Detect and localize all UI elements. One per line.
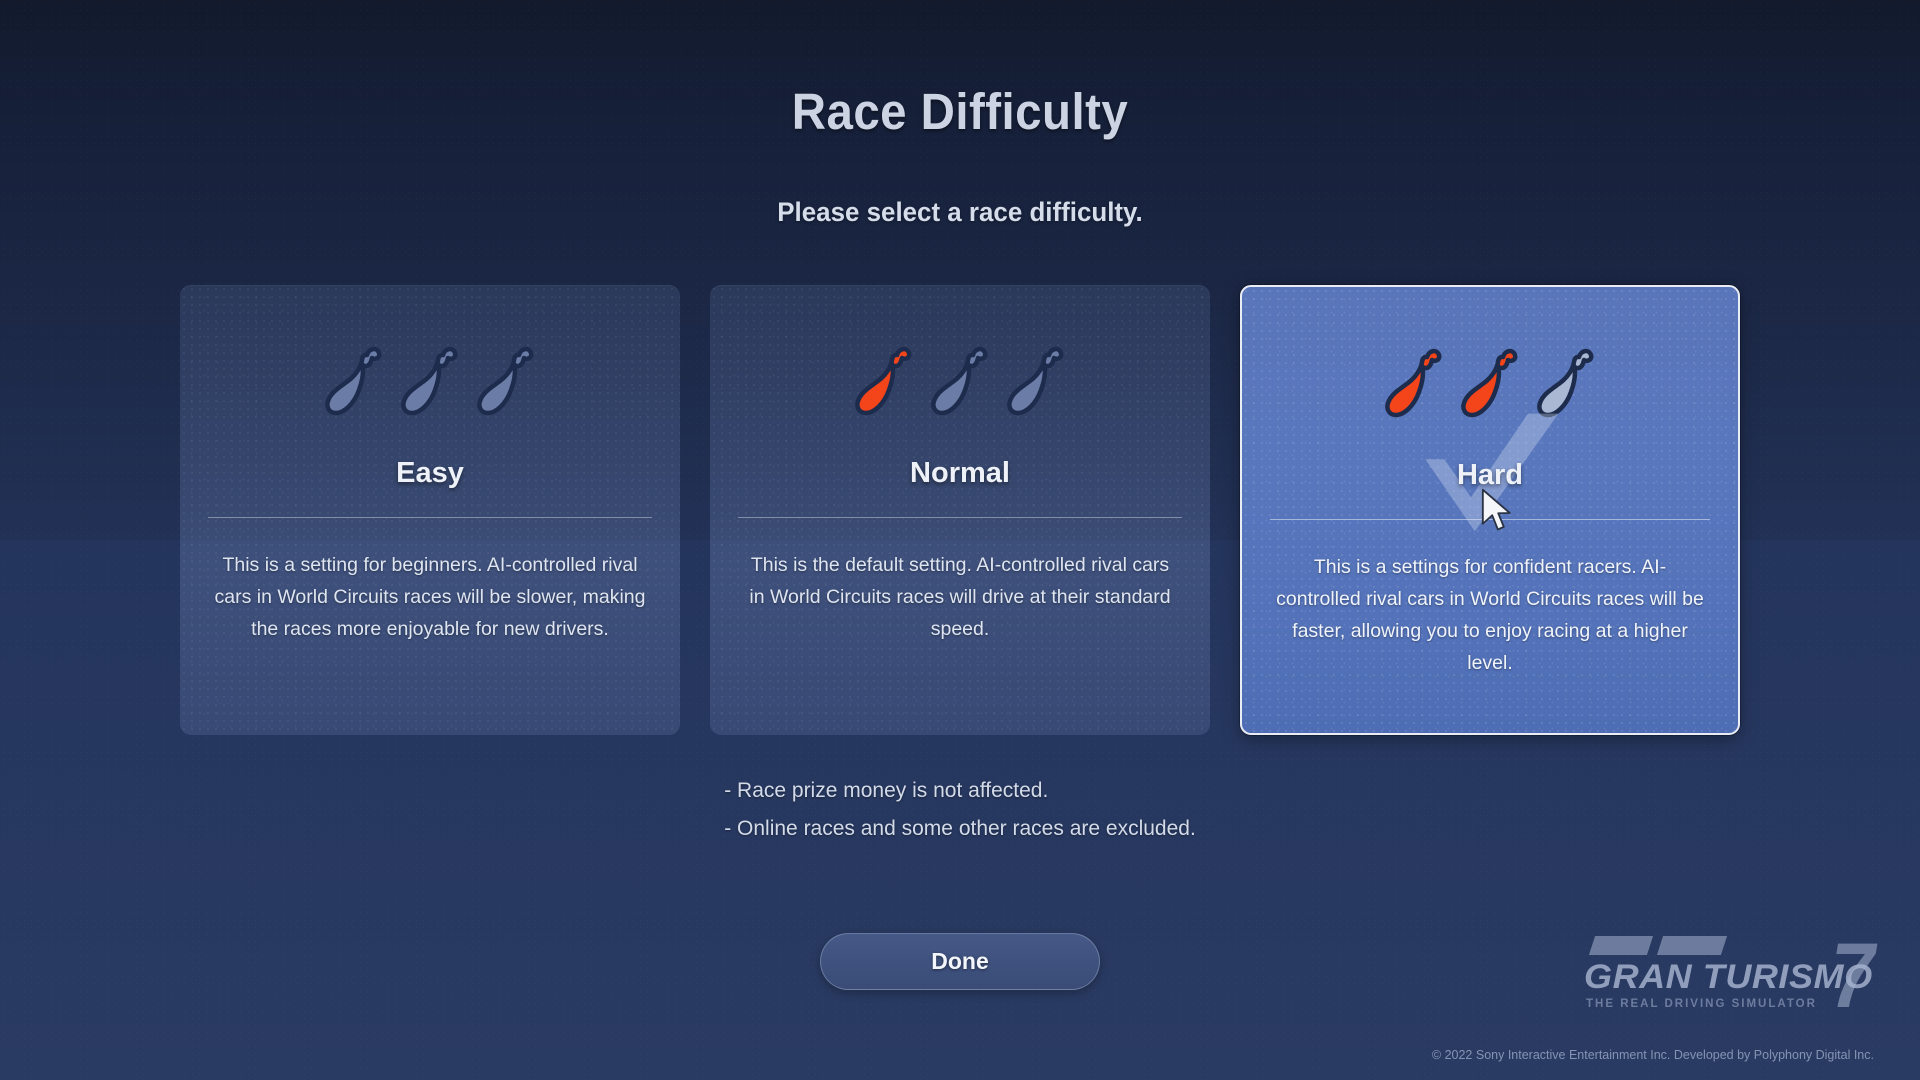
- done-button[interactable]: Done: [820, 933, 1100, 990]
- chili-pepper-icon: [399, 343, 461, 421]
- difficulty-card-normal[interactable]: Normal This is the default setting. AI-c…: [710, 285, 1210, 735]
- card-description-hard: This is a settings for confident racers.…: [1276, 551, 1704, 679]
- card-description-easy: This is a setting for beginners. AI-cont…: [214, 549, 646, 645]
- card-title-normal: Normal: [710, 457, 1210, 490]
- pepper-rating-normal: [710, 337, 1210, 427]
- gran-turismo-logo: GRAN TURISMO THE REAL DRIVING SIMULATOR …: [1584, 936, 1874, 1024]
- chili-pepper-icon: [853, 343, 915, 421]
- card-divider: [1270, 519, 1710, 520]
- logo-bar: [1657, 936, 1727, 955]
- card-description-normal: This is the default setting. AI-controll…: [744, 549, 1176, 645]
- chili-pepper-icon: [1005, 343, 1067, 421]
- logo-tagline: THE REAL DRIVING SIMULATOR: [1586, 998, 1817, 1010]
- chili-pepper-icon: [929, 343, 991, 421]
- difficulty-card-hard[interactable]: Hard This is a settings for confident ra…: [1240, 285, 1740, 735]
- chili-pepper-icon: [323, 343, 385, 421]
- logo-wordmark: GRAN TURISMO: [1584, 958, 1873, 997]
- notes-section: - Race prize money is not affected. - On…: [0, 772, 1920, 848]
- chili-pepper-icon: [1535, 345, 1597, 423]
- chili-pepper-icon: [1383, 345, 1445, 423]
- page-title: Race Difficulty: [67, 82, 1853, 141]
- difficulty-card-list: Easy This is a setting for beginners. AI…: [180, 285, 1740, 735]
- logo-bars: [1592, 936, 1724, 955]
- note-item: - Race prize money is not affected.: [724, 772, 1196, 810]
- difficulty-card-easy[interactable]: Easy This is a setting for beginners. AI…: [180, 285, 680, 735]
- pepper-rating-easy: [180, 337, 680, 427]
- page-subtitle: Please select a race difficulty.: [38, 197, 1881, 228]
- chili-pepper-icon: [1459, 345, 1521, 423]
- note-item: - Online races and some other races are …: [724, 810, 1196, 848]
- chili-pepper-icon: [475, 343, 537, 421]
- card-title-easy: Easy: [180, 457, 680, 490]
- pepper-rating-hard: [1242, 339, 1738, 429]
- card-divider: [738, 517, 1182, 518]
- logo-number-seven: 7: [1831, 930, 1874, 1022]
- card-divider: [208, 517, 652, 518]
- logo-bar: [1589, 936, 1653, 955]
- copyright-text: © 2022 Sony Interactive Entertainment In…: [1432, 1048, 1874, 1062]
- card-title-hard: Hard: [1242, 459, 1738, 492]
